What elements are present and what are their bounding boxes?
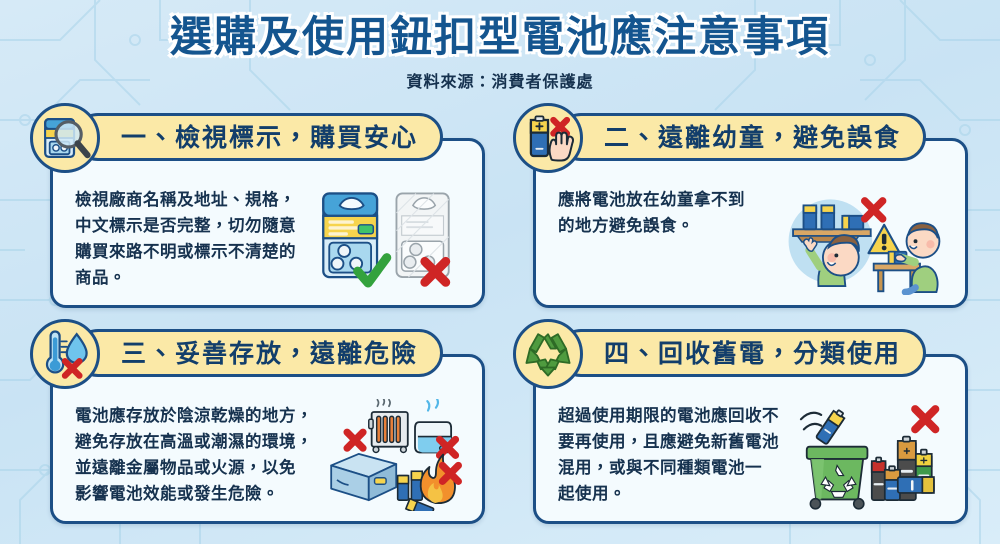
blister-packs-check-cross-illustration [303,183,472,295]
card-content: 電池應存放於陰涼乾燥的地方， 避免存放在高溫或潮濕的環境， 並遠離金屬物品或火源… [53,357,482,521]
card-panel: 檢視廠商名稱及地址、規格， 中文標示是否完整，切勿隨意 購買來路不明或標示不清楚… [50,138,485,308]
thermometer-droplet-cross-icon [30,319,100,389]
recycle-bin-mixed-batteries-illustration [790,399,955,511]
battery-hand-cross-icon [513,103,583,173]
card-title-text: 三、妥善存放，遠離危險 [121,341,418,366]
card-header: 四、回收舊電，分類使用 [557,328,926,378]
card-content: 超過使用期限的電池應回收不 要再使用，且應避免新舊電池 混用，或與不同種類電池一… [536,357,965,521]
card-panel: 電池應存放於陰涼乾燥的地方， 避免存放在高溫或潮濕的環境， 並遠離金屬物品或火源… [50,354,485,524]
card-content: 檢視廠商名稱及地址、規格， 中文標示是否完整，切勿隨意 購買來路不明或標示不清楚… [53,141,482,305]
card-title-text: 二、遠離幼童，避免誤食 [604,125,901,150]
card-description: 超過使用期限的電池應回收不 要再使用，且應避免新舊電池 混用，或與不同種類電池一… [558,399,790,507]
card-title-pill: 二、遠離幼童，避免誤食 [557,113,926,161]
card-description: 檢視廠商名稱及地址、規格， 中文標示是否完整，切勿隨意 購買來路不明或標示不清楚… [75,183,303,291]
card-panel: 應將電池放在幼童拿不到 的地方避免誤食。 [533,138,968,308]
page-title: 選購及使用鈕扣型電池應注意事項 [0,12,1000,62]
tip-card-3: 電池應存放於陰涼乾燥的地方， 避免存放在高溫或潮濕的環境， 並遠離金屬物品或火源… [28,328,489,530]
tip-card-4: 超過使用期限的電池應回收不 要再使用，且應避免新舊電池 混用，或與不同種類電池一… [511,328,972,530]
card-title-text: 一、檢視標示，購買安心 [121,125,418,150]
card-title-pill: 四、回收舊電，分類使用 [557,329,926,377]
card-header: 二、遠離幼童，避免誤食 [557,112,926,162]
tips-grid: 檢視廠商名稱及地址、規格， 中文標示是否完整，切勿隨意 購買來路不明或標示不清楚… [28,112,972,530]
recycle-icon [513,319,583,389]
cross-mark [347,432,363,448]
page-header: 選購及使用鈕扣型電池應注意事項 資料來源：消費者保護處 [0,0,1000,108]
cross-mark [915,409,935,429]
tip-card-1: 檢視廠商名稱及地址、規格， 中文標示是否完整，切勿隨意 購買來路不明或標示不清楚… [28,112,489,314]
card-header: 三、妥善存放，遠離危險 [74,328,443,378]
card-description: 應將電池放在幼童拿不到 的地方避免誤食。 [558,183,770,239]
card-title-text: 四、回收舊電，分類使用 [604,341,901,366]
card-header: 一、檢視標示，購買安心 [74,112,443,162]
card-description: 電池應存放於陰涼乾燥的地方， 避免存放在高溫或潮濕的環境， 並遠離金屬物品或火源… [75,399,319,507]
card-content: 應將電池放在幼童拿不到 的地方避免誤食。 [536,141,965,305]
children-reaching-batteries-illustration [770,183,955,295]
storage-box-heater-humidifier-fire-illustration [319,399,472,511]
page-subtitle-source: 資料來源：消費者保護處 [0,68,1000,92]
card-title-pill: 三、妥善存放，遠離危險 [74,329,443,377]
cross-mark [865,201,883,219]
tip-card-2: 應將電池放在幼童拿不到 的地方避免誤食。 [511,112,972,314]
card-panel: 超過使用期限的電池應回收不 要再使用，且應避免新舊電池 混用，或與不同種類電池一… [533,354,968,524]
magnifier-package-icon [30,103,100,173]
warning-triangle [868,225,899,253]
card-title-pill: 一、檢視標示，購買安心 [74,113,443,161]
